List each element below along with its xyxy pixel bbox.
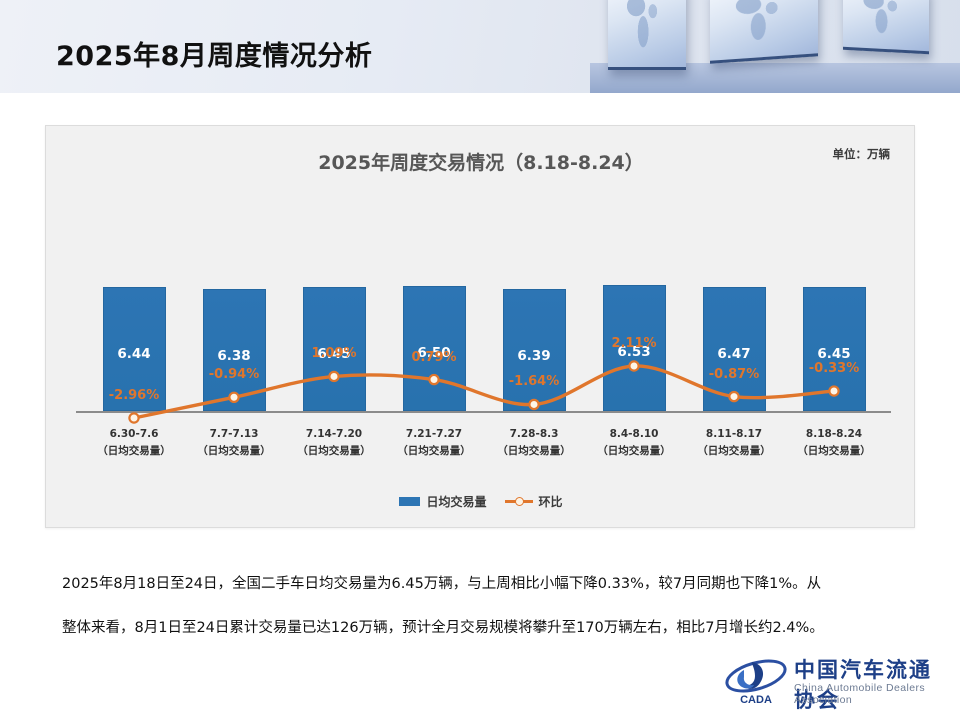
legend-item-bar[interactable]: 日均交易量 [399,493,486,510]
line-marker-4[interactable] [429,375,438,384]
world-map-texture-icon [622,0,666,56]
x-axis-label-sub: （日均交易量） [582,443,686,460]
line-marker-5[interactable] [529,400,538,409]
cube-icon [843,0,929,54]
x-axis-label-range: 7.21-7.27 [406,428,462,440]
legend-label-bar: 日均交易量 [426,493,486,510]
cube-icon [608,0,686,70]
percent-label-1: -2.96% [97,388,171,403]
line-marker-7[interactable] [729,392,738,401]
x-axis-label-2: 7.7-7.13（日均交易量） [182,426,286,460]
x-axis-label-range: 7.14-7.20 [306,428,362,440]
x-axis-labels: 6.30-7.6（日均交易量）7.7-7.13（日均交易量）7.14-7.20（… [46,414,916,474]
percent-label-3: 1.09% [297,346,371,361]
x-axis-label-sub: （日均交易量） [782,443,886,460]
summary-text: 2025年8月18日至24日，全国二手车日均交易量为6.45万辆，与上周相比小幅… [62,562,902,650]
line-marker-2[interactable] [229,393,238,402]
chart-panel: 2025年周度交易情况（8.18-8.24） 单位：万辆 6.446.386.4… [45,125,915,528]
x-axis-label-range: 6.30-7.6 [110,428,159,440]
slide-root: 2025年8月周度情况分析 2025年周度交易情况（8.18-8.24） 单位：… [0,0,960,720]
x-axis-label-sub: （日均交易量） [682,443,786,460]
legend-line-marker-icon [505,496,533,506]
x-axis-label-7: 8.11-8.17（日均交易量） [682,426,786,460]
x-axis-label-sub: （日均交易量） [382,443,486,460]
line-marker-8[interactable] [829,386,838,395]
header-cube-graphic [590,0,960,93]
legend-label-line: 环比 [539,493,563,510]
percent-label-2: -0.94% [197,367,271,382]
x-axis-label-1: 6.30-7.6（日均交易量） [82,426,186,460]
x-axis-label-range: 7.7-7.13 [210,428,259,440]
x-axis-label-range: 8.4-8.10 [610,428,659,440]
organization-logo: CADA 中国汽车流通协会 China Automobile Dealers A… [722,652,944,710]
percent-label-8: -0.33% [797,361,871,376]
slide-header: 2025年8月周度情况分析 [0,0,960,93]
x-axis-label-8: 8.18-8.24（日均交易量） [782,426,886,460]
percent-label-4: 0.79% [397,350,471,365]
percent-label-5: -1.64% [497,374,571,389]
x-axis-label-sub: （日均交易量） [282,443,386,460]
svg-text:CADA: CADA [740,694,772,706]
chart-legend: 日均交易量 环比 [46,486,916,516]
page-title: 2025年8月周度情况分析 [56,34,372,73]
chart-plot-area: 6.446.386.456.506.396.536.476.45 -2.96%-… [46,126,916,486]
summary-line-1: 2025年8月18日至24日，全国二手车日均交易量为6.45万辆，与上周相比小幅… [62,562,902,606]
x-axis-label-6: 8.4-8.10（日均交易量） [582,426,686,460]
x-axis-label-sub: （日均交易量） [482,443,586,460]
line-marker-6[interactable] [629,361,638,370]
summary-line-2: 整体来看，8月1日至24日累计交易量已达126万辆，预计全月交易规模将攀升至17… [62,606,902,650]
world-map-texture-icon [729,0,789,49]
x-axis-label-range: 7.28-8.3 [510,428,559,440]
cada-emblem-icon: CADA [722,656,790,706]
cube-icon [710,0,818,64]
x-axis-label-4: 7.21-7.27（日均交易量） [382,426,486,460]
x-axis-label-sub: （日均交易量） [82,443,186,460]
x-axis-label-3: 7.14-7.20（日均交易量） [282,426,386,460]
x-axis-label-range: 8.18-8.24 [806,428,862,440]
x-axis-label-range: 8.11-8.17 [706,428,762,440]
percent-label-6: 2.11% [597,336,671,351]
world-map-texture-icon [858,0,906,41]
legend-swatch-icon [399,497,420,506]
logo-name-en: China Automobile Dealers Association [794,682,944,706]
x-axis-label-sub: （日均交易量） [182,443,286,460]
line-marker-3[interactable] [329,372,338,381]
x-axis-label-5: 7.28-8.3（日均交易量） [482,426,586,460]
legend-item-line[interactable]: 环比 [505,493,563,510]
percent-label-7: -0.87% [697,367,771,382]
